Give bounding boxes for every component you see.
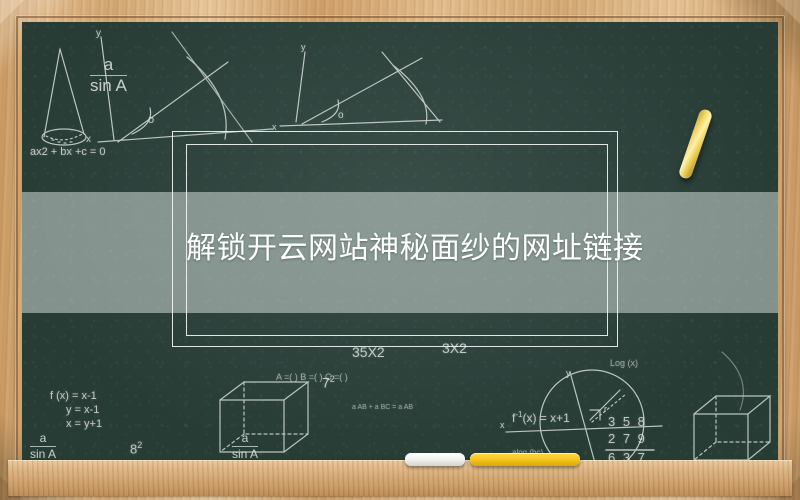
- chalk-ledge: [8, 460, 792, 496]
- yellow-chalk-on-ledge: [470, 453, 580, 466]
- chalkboard-image: a sin A ax2 + bx +c = 0 y x o y x o 35X2…: [0, 0, 800, 500]
- board-inner-bevel: [16, 16, 784, 472]
- white-eraser: [405, 453, 465, 466]
- ledge-wood-grain: [8, 460, 792, 496]
